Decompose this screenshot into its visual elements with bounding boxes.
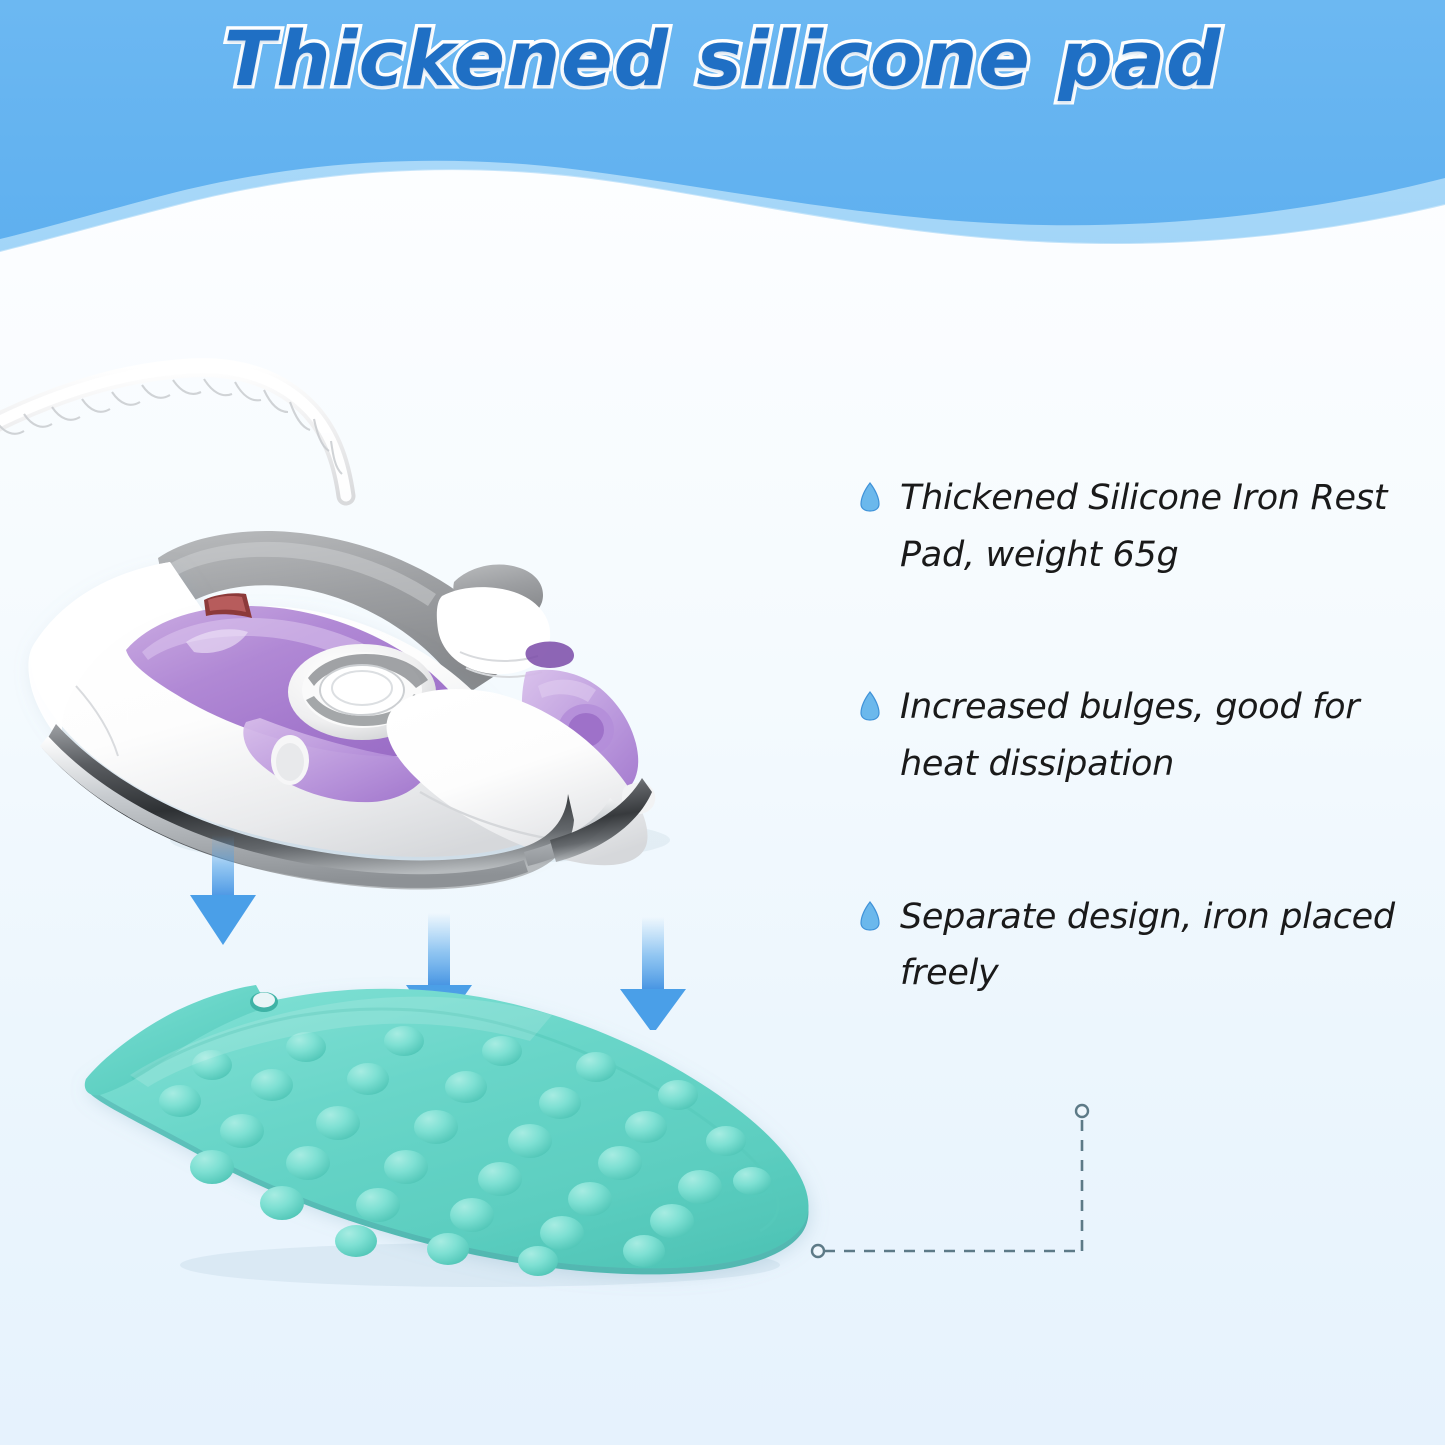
dimension-leader-line	[790, 1085, 1140, 1285]
list-item: Thickened Silicone Iron Rest Pad, weight…	[860, 470, 1420, 583]
spray-button-shade	[276, 743, 304, 781]
iron-drop-icon	[860, 691, 880, 721]
power-cord	[0, 368, 346, 496]
leader-endpoint-left	[812, 1245, 824, 1257]
list-item: Increased bulges, good for heat dissipat…	[860, 679, 1420, 792]
list-item-label: Thickened Silicone Iron Rest Pad, weight…	[900, 470, 1420, 583]
feature-list: Thickened Silicone Iron Rest Pad, weight…	[860, 470, 1420, 1002]
steam-iron-illustration	[0, 300, 790, 900]
infographic-canvas: Thickened silicone pad	[0, 0, 1445, 1445]
wave-dark	[0, 0, 1445, 239]
header-banner: Thickened silicone pad	[0, 0, 1445, 280]
indicator-glass	[208, 596, 246, 612]
arrow-down-1	[190, 835, 256, 945]
silicone-iron-rest-pad	[60, 955, 880, 1300]
list-item-label: Separate design, iron placed freely	[900, 889, 1420, 1002]
hanging-hole	[250, 992, 278, 1012]
list-item-label: Increased bulges, good for heat dissipat…	[900, 679, 1420, 792]
iron-drop-icon	[860, 482, 880, 512]
iron-drop-icon	[860, 901, 880, 931]
leader-endpoint-top	[1076, 1105, 1088, 1117]
list-item: Separate design, iron placed freely	[860, 889, 1420, 1002]
header-wave-graphic	[0, 0, 1445, 280]
